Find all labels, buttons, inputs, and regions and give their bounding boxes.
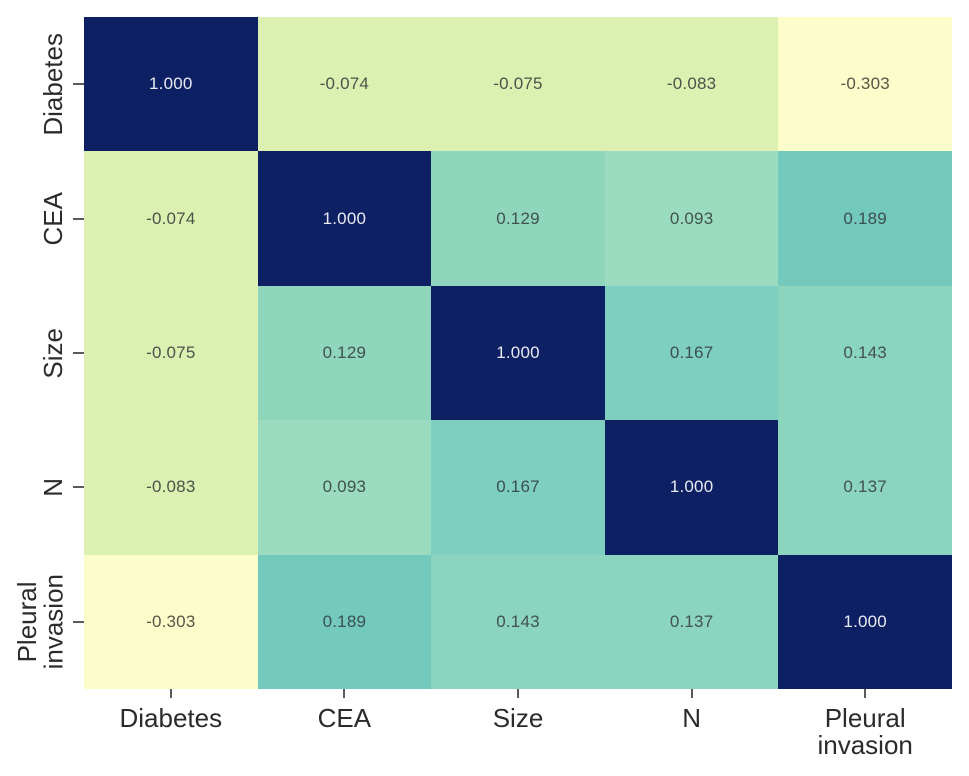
heatmap-cell-value: 0.129 xyxy=(323,343,367,363)
y-tick-mark xyxy=(73,83,84,85)
x-tick-cea: CEA xyxy=(258,689,432,776)
heatmap-cell: 1.000 xyxy=(778,555,952,689)
heatmap-cell: 1.000 xyxy=(605,420,779,554)
heatmap-cell: 0.137 xyxy=(605,555,779,689)
heatmap-cell: 0.093 xyxy=(605,151,779,285)
heatmap-cell: 0.093 xyxy=(258,420,432,554)
x-tick-label: Pleural invasion xyxy=(817,705,912,760)
heatmap-cell-value: 0.167 xyxy=(670,343,714,363)
heatmap-cell: -0.303 xyxy=(778,17,952,151)
y-tick-label: N xyxy=(40,478,67,497)
heatmap-cell: -0.074 xyxy=(258,17,432,151)
heatmap-cell-value: 0.137 xyxy=(843,477,887,497)
heatmap-cell: -0.075 xyxy=(84,286,258,420)
heatmap-cell-value: 1.000 xyxy=(323,209,367,229)
y-tick-label: Size xyxy=(40,328,67,379)
y-tick-mark xyxy=(73,486,84,488)
heatmap-cell: 1.000 xyxy=(258,151,432,285)
heatmap-cell-value: 0.167 xyxy=(496,477,540,497)
y-tick-diabetes: Diabetes xyxy=(0,17,84,151)
x-tick-label: Diabetes xyxy=(119,705,222,732)
heatmap-cell-value: -0.083 xyxy=(667,74,716,94)
heatmap-cell-value: 0.189 xyxy=(323,612,367,632)
heatmap-cell-value: 0.189 xyxy=(843,209,887,229)
x-tick-mark xyxy=(343,689,345,698)
x-tick-mark xyxy=(864,689,866,698)
heatmap-cell-value: -0.075 xyxy=(146,343,195,363)
x-tick-n: N xyxy=(605,689,779,776)
heatmap-cell-value: 0.093 xyxy=(323,477,367,497)
heatmap-cell-value: 1.000 xyxy=(149,74,193,94)
heatmap-cell-value: -0.083 xyxy=(146,477,195,497)
heatmap-cell: -0.083 xyxy=(605,17,779,151)
heatmap-cell: 1.000 xyxy=(431,286,605,420)
heatmap-cell-value: 1.000 xyxy=(843,612,887,632)
heatmap-cell: 0.143 xyxy=(778,286,952,420)
heatmap-cell: -0.075 xyxy=(431,17,605,151)
y-tick-mark xyxy=(73,621,84,623)
heatmap-cell-value: 0.143 xyxy=(496,612,540,632)
heatmap-cell-value: 0.093 xyxy=(670,209,714,229)
correlation-heatmap-figure: DiabetesCEASizeNPleural invasion 1.000-0… xyxy=(0,0,969,776)
x-axis: DiabetesCEASizeNPleural invasion xyxy=(84,689,952,776)
y-tick-label: CEA xyxy=(40,192,67,245)
y-tick-label: Pleural invasion xyxy=(14,574,67,669)
x-tick-label: N xyxy=(682,705,701,732)
y-tick-size: Size xyxy=(0,286,84,420)
heatmap-cell: 0.143 xyxy=(431,555,605,689)
y-tick-pleural-invasion: Pleural invasion xyxy=(0,555,84,689)
heatmap-cell: 0.189 xyxy=(778,151,952,285)
heatmap-cell-value: -0.303 xyxy=(146,612,195,632)
y-axis: DiabetesCEASizeNPleural invasion xyxy=(0,17,84,689)
heatmap-cell-value: 0.143 xyxy=(843,343,887,363)
y-tick-mark xyxy=(73,218,84,220)
y-tick-n: N xyxy=(0,420,84,554)
heatmap-cell: -0.083 xyxy=(84,420,258,554)
heatmap-cell-value: 0.129 xyxy=(496,209,540,229)
x-tick-mark xyxy=(691,689,693,698)
heatmap-cell: 0.167 xyxy=(431,420,605,554)
heatmap-cell-value: 1.000 xyxy=(496,343,540,363)
x-tick-mark xyxy=(170,689,172,698)
y-tick-cea: CEA xyxy=(0,151,84,285)
heatmap-cell: 0.167 xyxy=(605,286,779,420)
heatmap-cell: 1.000 xyxy=(84,17,258,151)
x-tick-label: Size xyxy=(493,705,544,732)
x-tick-label: CEA xyxy=(318,705,371,732)
heatmap-cell-value: -0.075 xyxy=(493,74,542,94)
heatmap-cell: 0.189 xyxy=(258,555,432,689)
x-tick-diabetes: Diabetes xyxy=(84,689,258,776)
y-tick-mark xyxy=(73,352,84,354)
x-tick-pleural-invasion: Pleural invasion xyxy=(778,689,952,776)
x-tick-size: Size xyxy=(431,689,605,776)
heatmap-cell-value: -0.303 xyxy=(840,74,889,94)
heatmap-cell: -0.074 xyxy=(84,151,258,285)
heatmap-plot-area: 1.000-0.074-0.075-0.083-0.303-0.0741.000… xyxy=(84,17,952,689)
x-tick-mark xyxy=(517,689,519,698)
y-tick-label: Diabetes xyxy=(40,33,67,136)
heatmap-cell-value: 0.137 xyxy=(670,612,714,632)
heatmap-cell: 0.129 xyxy=(431,151,605,285)
heatmap-cell-value: 1.000 xyxy=(670,477,714,497)
heatmap-cell: 0.137 xyxy=(778,420,952,554)
heatmap-cell-value: -0.074 xyxy=(320,74,369,94)
heatmap-cell: 0.129 xyxy=(258,286,432,420)
heatmap-cell-value: -0.074 xyxy=(146,209,195,229)
heatmap-cell: -0.303 xyxy=(84,555,258,689)
